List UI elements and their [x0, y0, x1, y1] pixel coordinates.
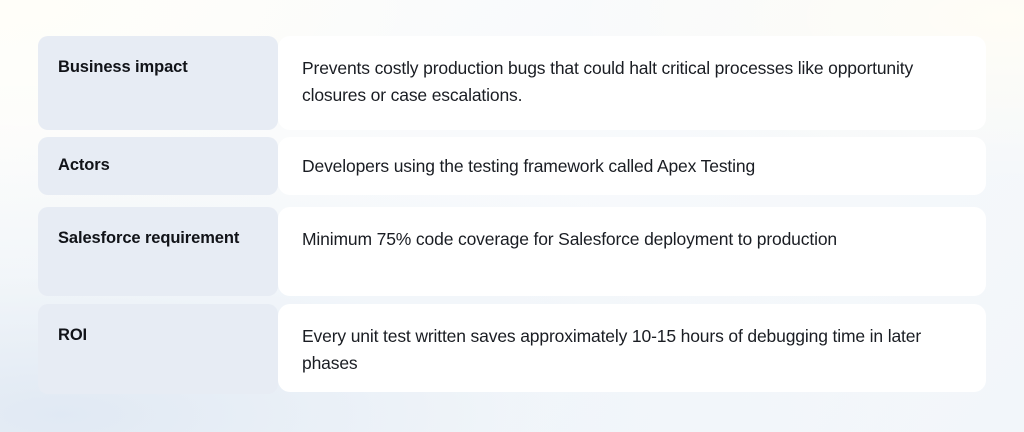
table-row-content-cell: Every unit test written saves approximat…	[278, 304, 986, 392]
table-row-content: Minimum 75% code coverage for Salesforce…	[302, 226, 962, 253]
table-row-content-cell: Prevents costly production bugs that cou…	[278, 36, 986, 130]
table-row: Business impact Prevents costly producti…	[38, 36, 986, 130]
table-row: Actors Developers using the testing fram…	[38, 137, 986, 195]
table-row-content: Every unit test written saves approximat…	[302, 323, 962, 378]
row-divider	[38, 130, 986, 137]
row-divider	[38, 195, 986, 207]
table-row-content-cell: Developers using the testing framework c…	[278, 137, 986, 195]
table-row-label: ROI	[58, 323, 258, 348]
table-row: Salesforce requirement Minimum 75% code …	[38, 207, 986, 296]
row-divider	[38, 296, 986, 304]
table-row-label: Actors	[58, 153, 258, 178]
table-row: ROI Every unit test written saves approx…	[38, 304, 986, 394]
table-row-label-cell: ROI	[38, 304, 278, 394]
table-row-label-cell: Salesforce requirement	[38, 207, 278, 296]
info-table: Business impact Prevents costly producti…	[38, 36, 986, 394]
table-row-content: Prevents costly production bugs that cou…	[302, 55, 962, 110]
info-table-panel: Business impact Prevents costly producti…	[0, 0, 1024, 432]
table-row-content: Developers using the testing framework c…	[302, 153, 962, 180]
table-row-label-cell: Business impact	[38, 36, 278, 130]
table-row-label-cell: Actors	[38, 137, 278, 195]
table-row-content-cell: Minimum 75% code coverage for Salesforce…	[278, 207, 986, 296]
table-row-label: Business impact	[58, 55, 258, 80]
table-row-label: Salesforce requirement	[58, 226, 258, 251]
